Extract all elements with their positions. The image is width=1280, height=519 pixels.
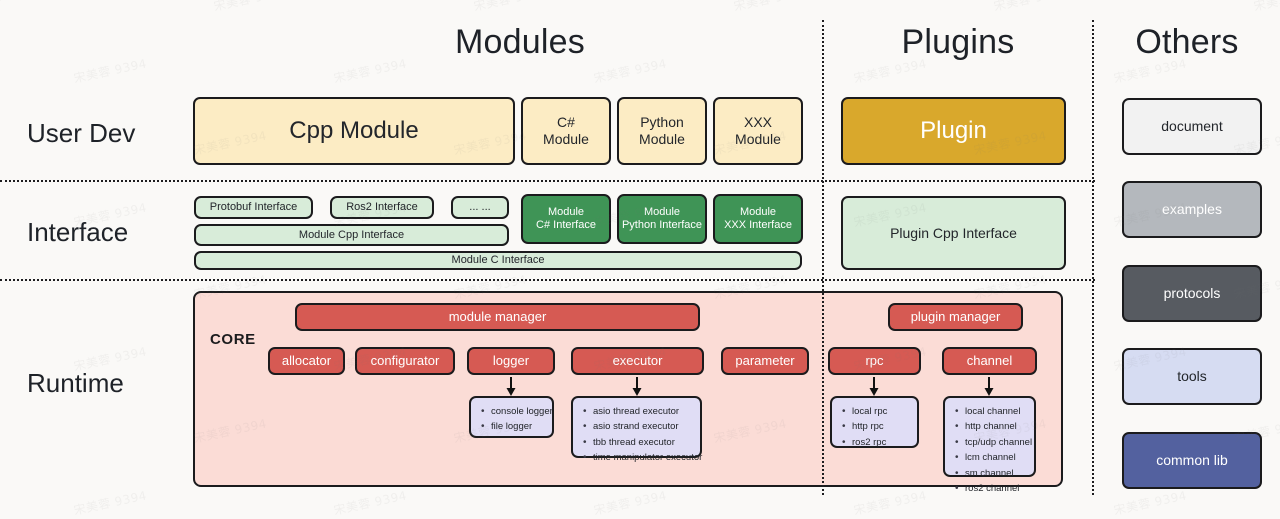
- list-item: tbb thread executor: [593, 435, 692, 450]
- watermark-text: 宋美蓉 9394: [332, 486, 408, 518]
- box-logger[interactable]: logger: [467, 347, 555, 375]
- box-module-csharp-interface[interactable]: Module C# Interface: [521, 194, 611, 244]
- box-rpc[interactable]: rpc: [828, 347, 921, 375]
- column-title-modules: Modules: [190, 23, 850, 62]
- box-others-examples[interactable]: examples: [1122, 181, 1262, 238]
- box-python-module[interactable]: Python Module: [617, 97, 707, 165]
- list-item: ros2 channel: [965, 481, 1026, 496]
- column-title-plugins: Plugins: [824, 23, 1092, 62]
- watermark-text: 宋美蓉 9394: [592, 486, 668, 518]
- watermark-text: 宋美蓉 9394: [72, 54, 148, 86]
- watermark-text: 宋美蓉 9394: [1252, 0, 1280, 15]
- list-item: time manipulator executor: [593, 450, 692, 465]
- box-module-manager[interactable]: module manager: [295, 303, 700, 331]
- watermark-text: 宋美蓉 9394: [472, 0, 548, 15]
- box-others-protocols[interactable]: protocols: [1122, 265, 1262, 322]
- list-executor-children: asio thread executorasio strand executor…: [571, 396, 702, 458]
- box-ros2-interface[interactable]: Ros2 Interface: [330, 196, 434, 219]
- list-item: local rpc: [852, 404, 909, 419]
- row-label-user-dev: User Dev: [27, 118, 135, 149]
- arrow-logger-down: [504, 377, 518, 397]
- box-allocator[interactable]: allocator: [268, 347, 345, 375]
- core-label: CORE: [210, 331, 256, 348]
- box-plugin[interactable]: Plugin: [841, 97, 1066, 165]
- box-module-python-interface[interactable]: Module Python Interface: [617, 194, 707, 244]
- box-protobuf-interface[interactable]: Protobuf Interface: [194, 196, 313, 219]
- list-channel-children: local channelhttp channeltcp/udp channel…: [943, 396, 1036, 477]
- box-plugin-cpp-interface[interactable]: Plugin Cpp Interface: [841, 196, 1066, 270]
- divider-modules-plugins: [822, 20, 824, 495]
- box-more-interface[interactable]: ... ...: [451, 196, 509, 219]
- watermark-text: 宋美蓉 9394: [72, 486, 148, 518]
- list-logger-children: console loggerfile logger: [469, 396, 554, 438]
- watermark-text: 宋美蓉 9394: [732, 0, 808, 15]
- box-cpp-module[interactable]: Cpp Module: [193, 97, 515, 165]
- watermark-text: 宋美蓉 9394: [1112, 486, 1188, 518]
- box-module-xxx-interface[interactable]: Module XXX Interface: [713, 194, 803, 244]
- list-item: tcp/udp channel: [965, 435, 1026, 450]
- box-csharp-module[interactable]: C# Module: [521, 97, 611, 165]
- row-label-interface: Interface: [27, 217, 128, 248]
- watermark-text: 宋美蓉 9394: [852, 486, 928, 518]
- list-item: http channel: [965, 419, 1026, 434]
- box-module-c-interface[interactable]: Module C Interface: [194, 251, 802, 270]
- box-module-cpp-interface[interactable]: Module Cpp Interface: [194, 224, 509, 246]
- arrow-rpc-down: [867, 377, 881, 397]
- box-configurator[interactable]: configurator: [355, 347, 455, 375]
- box-others-document[interactable]: document: [1122, 98, 1262, 155]
- box-parameter[interactable]: parameter: [721, 347, 809, 375]
- list-item: asio strand executor: [593, 419, 692, 434]
- arrow-channel-down: [982, 377, 996, 397]
- arrow-executor-down: [630, 377, 644, 397]
- box-others-common-lib[interactable]: common lib: [1122, 432, 1262, 489]
- architecture-diagram: 宋美蓉 9394宋美蓉 9394宋美蓉 9394宋美蓉 9394宋美蓉 9394…: [0, 0, 1280, 519]
- row-label-runtime: Runtime: [27, 368, 124, 399]
- column-title-others: Others: [1094, 23, 1280, 62]
- box-channel[interactable]: channel: [942, 347, 1037, 375]
- list-item: console logger: [491, 404, 544, 419]
- list-item: file logger: [491, 419, 544, 434]
- divider-user-dev-interface: [0, 180, 1095, 182]
- watermark-text: 宋美蓉 9394: [992, 0, 1068, 15]
- list-rpc-children: local rpchttp rpcros2 rpc: [830, 396, 919, 448]
- list-item: ros2 rpc: [852, 435, 909, 450]
- box-executor[interactable]: executor: [571, 347, 704, 375]
- list-item: asio thread executor: [593, 404, 692, 419]
- watermark-text: 宋美蓉 9394: [212, 0, 288, 15]
- box-xxx-module[interactable]: XXX Module: [713, 97, 803, 165]
- list-item: lcm channel: [965, 450, 1026, 465]
- list-item: sm channel: [965, 466, 1026, 481]
- box-others-tools[interactable]: tools: [1122, 348, 1262, 405]
- divider-plugins-others: [1092, 20, 1094, 495]
- watermark-text: 宋美蓉 9394: [0, 0, 29, 15]
- divider-interface-runtime: [0, 279, 1095, 281]
- box-plugin-manager[interactable]: plugin manager: [888, 303, 1023, 331]
- list-item: http rpc: [852, 419, 909, 434]
- list-item: local channel: [965, 404, 1026, 419]
